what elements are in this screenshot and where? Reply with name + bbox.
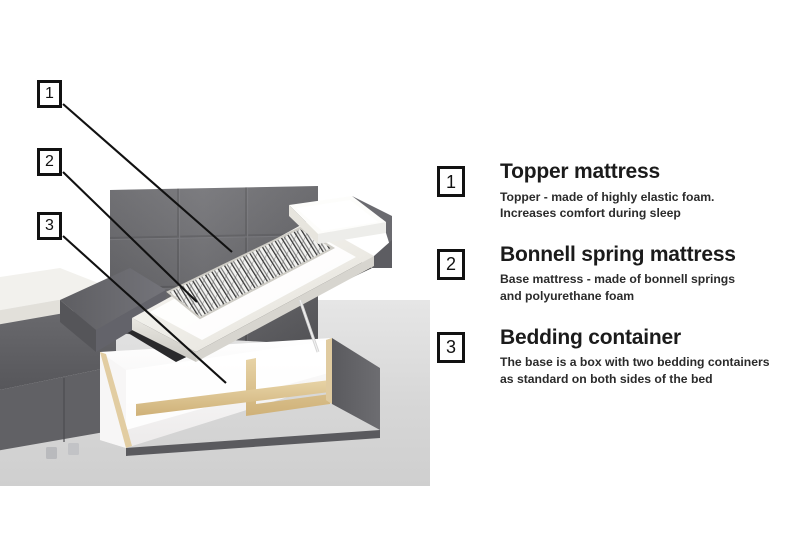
legend-description-1: Topper - made of highly elastic foam. In… xyxy=(500,189,793,221)
callout-chip-3-label: 3 xyxy=(45,218,54,234)
bed-foot xyxy=(68,443,79,455)
bed-foot xyxy=(46,447,57,459)
legend-title-2: Bonnell spring mattress xyxy=(500,243,793,267)
legend-panel: 1 Topper mattress Topper - made of highl… xyxy=(437,160,793,387)
callout-chip-1: 1 xyxy=(37,80,62,108)
callout-chip-2-label: 2 xyxy=(45,154,54,170)
legend-item-1: 1 Topper mattress Topper - made of highl… xyxy=(437,160,793,221)
legend-number-badge-3: 3 xyxy=(437,332,465,363)
bed-illustration-svg xyxy=(0,0,430,495)
callout-chip-2: 2 xyxy=(37,148,62,176)
legend-number-badge-1: 1 xyxy=(437,166,465,197)
legend-title-1: Topper mattress xyxy=(500,160,793,184)
bed-illustration: 1 2 3 xyxy=(0,0,430,495)
callout-chip-1-label: 1 xyxy=(45,86,54,102)
infographic-canvas: 1 2 3 1 Topper mattress Topper - made of… xyxy=(0,0,800,533)
callout-chip-3: 3 xyxy=(37,212,62,240)
legend-description-2: Base mattress - made of bonnell springs … xyxy=(500,271,793,303)
floor-edge xyxy=(0,486,430,495)
legend-description-3: The base is a box with two bedding conta… xyxy=(500,354,793,386)
legend-title-3: Bedding container xyxy=(500,326,793,350)
legend-number-3: 3 xyxy=(446,338,456,356)
legend-number-1: 1 xyxy=(446,173,456,191)
legend-number-2: 2 xyxy=(446,255,456,273)
legend-item-3: 3 Bedding container The base is a box wi… xyxy=(437,326,793,387)
legend-item-2: 2 Bonnell spring mattress Base mattress … xyxy=(437,243,793,304)
legend-number-badge-2: 2 xyxy=(437,249,465,280)
